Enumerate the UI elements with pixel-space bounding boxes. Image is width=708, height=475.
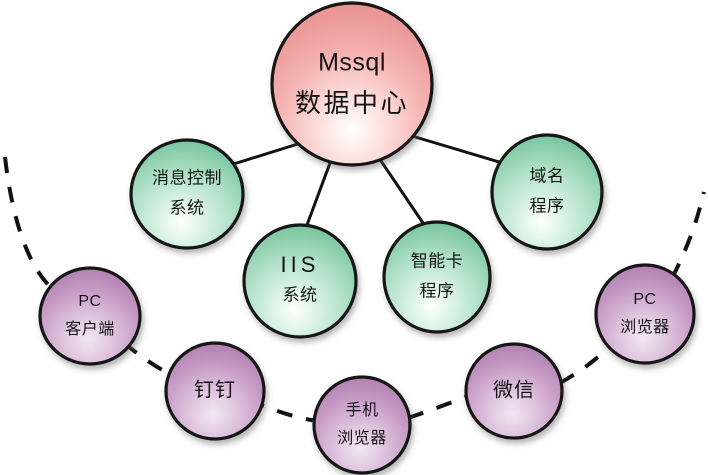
mssql-data-center-label-line1: Mssql	[318, 49, 386, 77]
link-center-to-domain-name	[412, 136, 509, 165]
iis-system-label-line2: 系统	[283, 285, 318, 304]
mobile-browser-label-line2: 浏览器	[337, 429, 387, 447]
pc-client-label-line1: PC	[78, 293, 101, 310]
iis-system-label-line1: IIS	[281, 252, 320, 277]
iis-system-ellipse[interactable]	[244, 225, 356, 337]
node-wechat[interactable]: 微信	[466, 344, 562, 438]
dingtalk-label-line1: 钉钉	[194, 378, 236, 401]
architecture-diagram: Mssql 数据中心 消息控制 系统 IIS 系统 智能卡 程序 域名	[0, 0, 708, 475]
node-smart-card-program[interactable]: 智能卡 程序	[384, 222, 490, 332]
node-pc-client[interactable]: PC 客户端	[40, 268, 140, 364]
smart-card-program-label-line2: 程序	[420, 281, 455, 300]
domain-name-program-label-line2: 程序	[530, 196, 565, 215]
node-iis-system[interactable]: IIS 系统	[244, 225, 356, 337]
smart-card-program-ellipse[interactable]	[384, 222, 490, 332]
message-control-system-ellipse[interactable]	[131, 140, 243, 248]
mssql-data-center-label-line2: 数据中心	[295, 88, 409, 118]
node-dingtalk[interactable]: 钉钉	[166, 343, 264, 439]
message-control-system-label-line2: 系统	[170, 198, 205, 217]
smart-card-program-label-line1: 智能卡	[411, 251, 464, 270]
mobile-browser-label-line1: 手机	[345, 401, 378, 419]
node-message-control-system[interactable]: 消息控制 系统	[131, 140, 243, 248]
domain-name-program-ellipse[interactable]	[492, 135, 602, 249]
pc-browser-ellipse[interactable]	[596, 265, 694, 363]
domain-name-program-label-line1: 域名	[530, 166, 565, 185]
mssql-data-center-ellipse[interactable]	[272, 3, 432, 165]
link-center-to-iis	[307, 163, 330, 225]
client-nodes-group: PC 客户端 钉钉 手机 浏览器 微信 PC 浏览器	[40, 265, 694, 473]
node-mssql-data-center[interactable]: Mssql 数据中心	[272, 3, 432, 165]
mobile-browser-ellipse[interactable]	[314, 377, 410, 473]
pc-client-ellipse[interactable]	[40, 268, 140, 364]
pc-client-label-line2: 客户端	[65, 320, 115, 338]
service-nodes-group: 消息控制 系统 IIS 系统 智能卡 程序 域名 程序	[131, 135, 602, 337]
diagram-canvas: Mssql 数据中心 消息控制 系统 IIS 系统 智能卡 程序 域名	[0, 0, 708, 475]
wechat-label-line1: 微信	[493, 378, 535, 401]
node-domain-name-program[interactable]: 域名 程序	[492, 135, 602, 249]
node-mobile-browser[interactable]: 手机 浏览器	[314, 377, 410, 473]
message-control-system-label-line1: 消息控制	[152, 168, 222, 187]
node-pc-browser[interactable]: PC 浏览器	[596, 265, 694, 363]
pc-browser-label-line1: PC	[633, 291, 656, 308]
pc-browser-label-line2: 浏览器	[620, 318, 670, 336]
link-center-to-message-control	[224, 143, 301, 167]
link-center-to-smart-card	[381, 161, 423, 223]
